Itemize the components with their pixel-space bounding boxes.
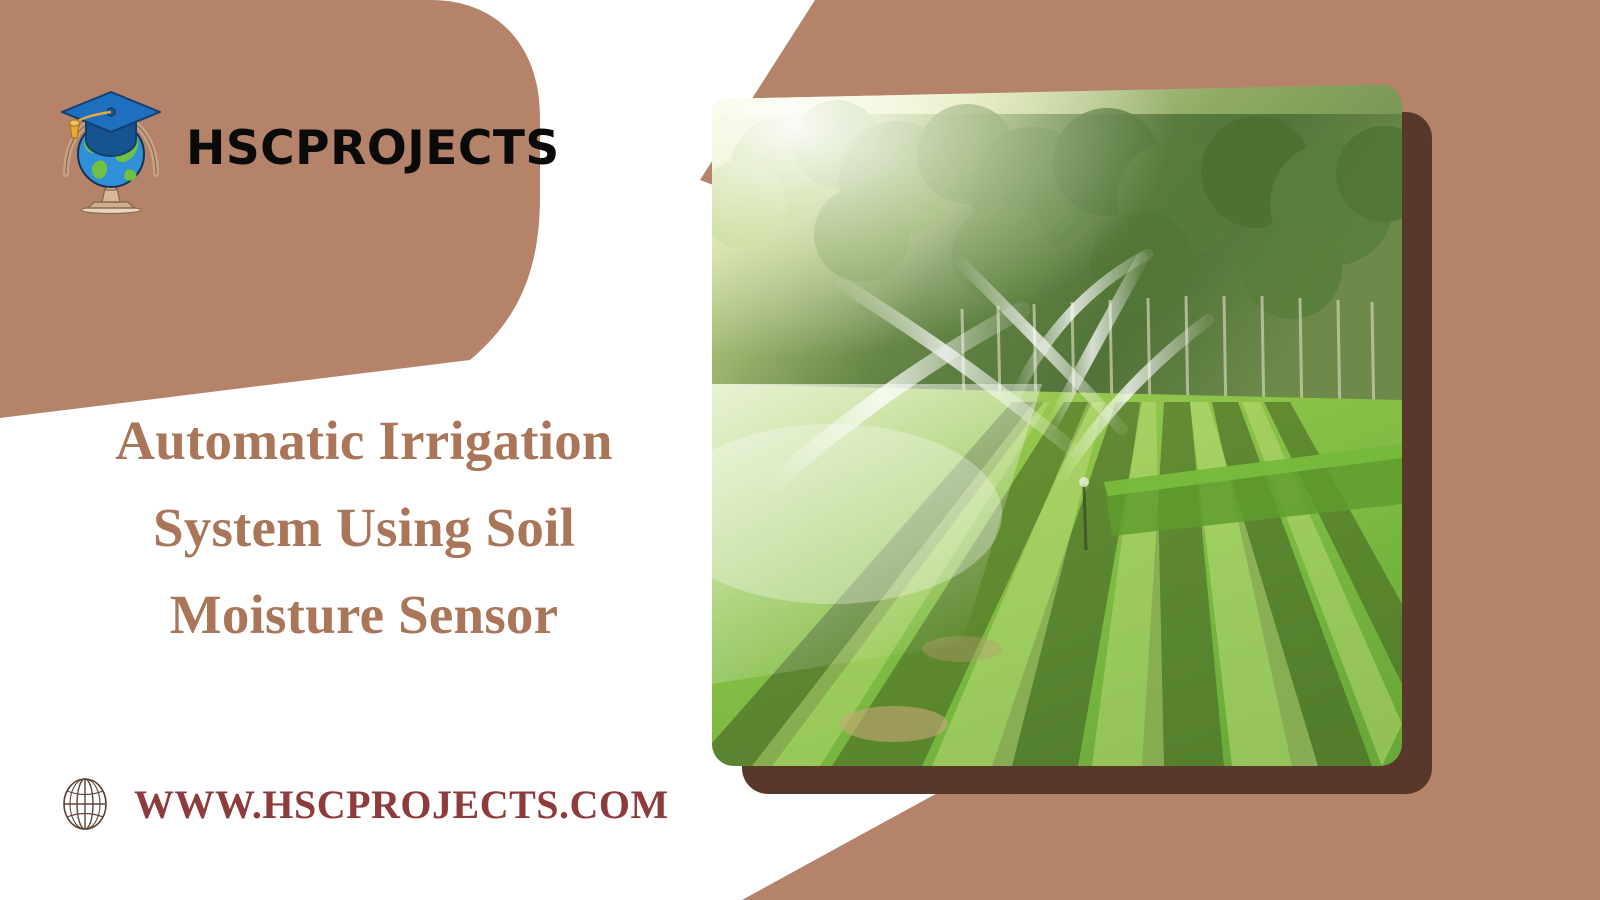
brand-name: HSCPROJECTS — [186, 125, 560, 172]
brand-lockup: HSCPROJECTS — [52, 78, 560, 218]
page-title-line-1: Automatic Irrigation — [48, 398, 680, 485]
site-url[interactable]: WWW.HSCPROJECTS.COM — [134, 781, 669, 828]
globe-wireframe-icon — [58, 776, 112, 832]
poster-canvas: HSCPROJECTS — [0, 0, 1600, 900]
site-footer[interactable]: WWW.HSCPROJECTS.COM — [58, 776, 669, 832]
page-title-line-3: Moisture Sensor — [48, 572, 680, 659]
hero-photo — [712, 84, 1402, 766]
page-title: Automatic Irrigation System Using Soil M… — [48, 398, 680, 659]
graduation-cap-globe-icon — [52, 78, 170, 218]
page-title-line-2: System Using Soil — [48, 485, 680, 572]
